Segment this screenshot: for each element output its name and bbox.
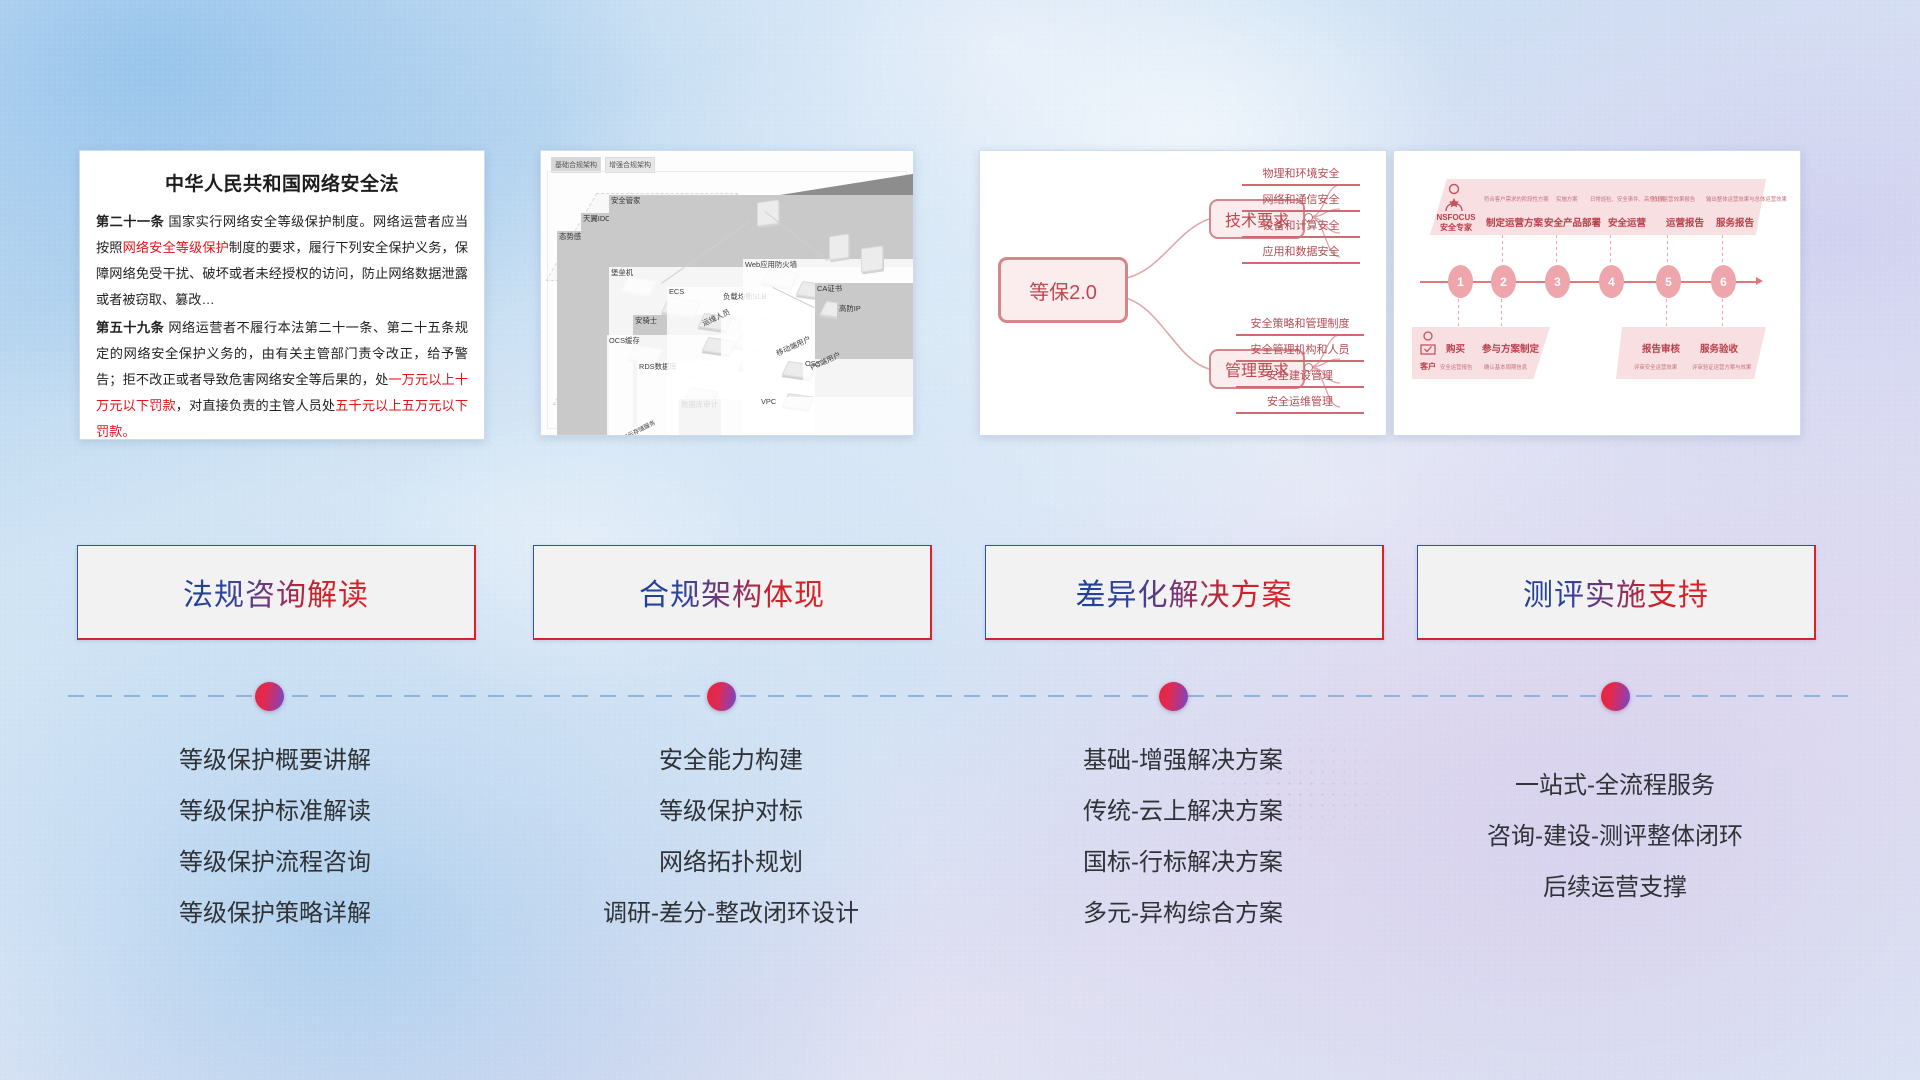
roadmap-link-3 — [1556, 235, 1557, 263]
roadmap-customer-sub-2: 确认基本周期信息 — [1484, 363, 1527, 371]
roadmap-customer-caption-3: 报告审核 — [1642, 341, 1680, 355]
mindmap-leaf-org-personnel: 安全管理机构和人员 — [1236, 341, 1364, 362]
list-item: 传统-云上解决方案 — [985, 786, 1381, 837]
section-header-assessment-support[interactable]: 测评实施支持 — [1417, 545, 1816, 640]
section-header-label-3: 差异化解决方案 — [1076, 570, 1293, 614]
detail-column-3: 基础-增强解决方案 传统-云上解决方案 国标-行标解决方案 多元-异构综合方案 — [985, 735, 1381, 939]
timeline-dot-1[interactable] — [255, 682, 284, 711]
list-item: 安全能力构建 — [533, 735, 929, 786]
list-item: 等级保护对标 — [533, 786, 929, 837]
roadmap-customer-caption-4: 服务验收 — [1700, 341, 1738, 355]
article-59-text-2: ，对直接负责的主管人员处 — [176, 398, 335, 413]
list-item: 咨询-建设-测评整体闭环 — [1417, 811, 1813, 862]
roadmap-customer-caption-1: 购买 — [1446, 341, 1465, 355]
roadmap-step-marker-6: 6 — [1711, 265, 1736, 298]
roadmap-link-c2 — [1501, 299, 1502, 329]
node-icon-mobile-user — [829, 234, 849, 261]
mindmap-leaf-ops-mgmt: 安全运维管理 — [1236, 393, 1364, 414]
roadmap-customer-sub-4: 评审验证运营方案与效果 — [1692, 363, 1751, 371]
timeline-dot-4[interactable] — [1601, 682, 1630, 711]
list-item: 等级保护标准解读 — [77, 786, 473, 837]
detail-column-4: 一站式-全流程服务 咨询-建设-测评整体闭环 后续运营支撑 — [1417, 735, 1813, 913]
roadmap-link-6 — [1722, 235, 1723, 263]
section-header-label-1: 法规咨询解读 — [183, 570, 369, 614]
list-item: 多元-异构综合方案 — [985, 888, 1381, 939]
roadmap-link-2 — [1502, 235, 1503, 263]
roadmap-step-marker-5: 5 — [1656, 265, 1681, 298]
timeline-dot-3[interactable] — [1159, 682, 1188, 711]
roadmap-step-caption-4: 安全运营 — [1608, 215, 1646, 229]
list-item: 后续运营支撑 — [1417, 862, 1813, 913]
architecture-diagram: 基础合规架构 增强合规架构 阿里云 态势感知 天翼IDC 安全管家 — [541, 151, 913, 435]
detail-column-2: 安全能力构建 等级保护对标 网络拓扑规划 调研-差分-整改闭环设计 — [533, 735, 929, 939]
roadmap-customer-caption-2: 参与方案制定 — [1482, 341, 1539, 355]
roadmap-step-caption-6: 服务报告 — [1716, 215, 1754, 229]
roadmap-link-c1 — [1458, 299, 1459, 329]
roadmap-step-caption-5: 运营报告 — [1666, 215, 1704, 229]
list-item: 等级保护策略详解 — [77, 888, 473, 939]
mindmap-leaf-device-compute: 设备和计算安全 — [1242, 217, 1360, 238]
roadmap-link-c5 — [1666, 299, 1667, 329]
roadmap-step-sub-5: 阶段运营效果报告 — [1652, 195, 1695, 203]
article-59-label: 第五十九条 — [96, 320, 164, 335]
roadmap-step-marker-3: 3 — [1545, 265, 1570, 298]
article-21-label: 第二十一条 — [96, 214, 164, 229]
section-headers-row: 法规咨询解读 合规架构体现 差异化解决方案 测评实施支持 — [0, 545, 1920, 640]
expert-person-icon — [1442, 183, 1466, 213]
mindmap-leaf-construction-mgmt: 安全建设管理 — [1236, 367, 1364, 388]
section-header-compliance-architecture[interactable]: 合规架构体现 — [533, 545, 932, 640]
roadmap-step-marker-1: 1 — [1448, 265, 1473, 298]
detail-column-1: 等级保护概要讲解 等级保护标准解读 等级保护流程咨询 等级保护策略详解 — [77, 735, 473, 939]
mindmap-leaf-physical-env: 物理和环境安全 — [1242, 165, 1360, 186]
roadmap-link-4 — [1610, 235, 1611, 263]
slide-stage: 中华人民共和国网络安全法 第二十一条 国家实行网络安全等级保护制度。网络运营者应… — [0, 0, 1920, 1080]
law-article-21: 第二十一条 国家实行网络安全等级保护制度。网络运营者应当按照网络安全等级保护制度… — [96, 209, 468, 313]
customer-person-icon — [1418, 331, 1438, 359]
roadmap-step-marker-2: 2 — [1491, 265, 1516, 298]
roadmap-step-sub-2: 符合客户需求的阶段性方案 — [1484, 195, 1549, 203]
list-item: 网络拓扑规划 — [533, 837, 929, 888]
timeline-dashed-line — [68, 695, 1858, 697]
card-compliance-architecture: 基础合规架构 增强合规架构 阿里云 态势感知 天翼IDC 安全管家 — [540, 150, 914, 436]
roadmap-customer-band-right — [1616, 327, 1766, 379]
reference-cards-row: 中华人民共和国网络安全法 第二十一条 国家实行网络安全等级保护制度。网络运营者应… — [0, 150, 1920, 445]
list-item: 一站式-全流程服务 — [1417, 760, 1813, 811]
list-item: 调研-差分-整改闭环设计 — [533, 888, 929, 939]
timeline — [0, 660, 1920, 720]
section-header-regulation-consulting[interactable]: 法规咨询解读 — [77, 545, 476, 640]
section-header-differentiated-solutions[interactable]: 差异化解决方案 — [985, 545, 1384, 640]
roadmap-step-marker-4: 4 — [1599, 265, 1624, 298]
list-item: 等级保护概要讲解 — [77, 735, 473, 786]
detail-columns: 等级保护概要讲解 等级保护标准解读 等级保护流程咨询 等级保护策略详解 安全能力… — [0, 735, 1920, 965]
list-item: 国标-行标解决方案 — [985, 837, 1381, 888]
mindmap-leaf-policy-system: 安全策略和管理制度 — [1236, 315, 1364, 336]
mindmap-leaf-network-comm: 网络和通信安全 — [1242, 191, 1360, 212]
node-icon-pc-user — [861, 245, 883, 272]
roadmap-step-sub-3: 实施方案 — [1556, 195, 1578, 203]
card-dengbao-mindmap: 等保2.0 技术要求 管理要求 物理和环境安全 网络和通信安全 设备和计算安全 … — [979, 150, 1387, 436]
card-cybersecurity-law: 中华人民共和国网络安全法 第二十一条 国家实行网络安全等级保护制度。网络运营者应… — [79, 150, 485, 440]
timeline-dot-2[interactable] — [707, 682, 736, 711]
mindmap-leaf-app-data: 应用和数据安全 — [1242, 243, 1360, 264]
roadmap-axis-arrow-icon — [1756, 277, 1763, 285]
roadmap-link-5 — [1667, 235, 1668, 263]
roadmap-expert-role-label: NSFOCUS安全专家 — [1434, 213, 1478, 233]
roadmap-step-caption-2: 制定运营方案 — [1486, 215, 1543, 229]
roadmap-link-c6 — [1722, 299, 1723, 329]
list-item: 基础-增强解决方案 — [985, 735, 1381, 786]
section-header-label-4: 测评实施支持 — [1523, 570, 1709, 614]
card-service-roadmap: NSFOCUS安全专家 制定运营方案 符合客户需求的阶段性方案 安全产品部署 实… — [1393, 150, 1801, 436]
roadmap-step-caption-3: 安全产品部署 — [1544, 215, 1601, 229]
roadmap-customer-role-label: 客户 — [1420, 361, 1436, 372]
list-item: 等级保护流程咨询 — [77, 837, 473, 888]
roadmap-customer-sub-3: 评审安全运营效果 — [1634, 363, 1677, 371]
roadmap-diagram: NSFOCUS安全专家 制定运营方案 符合客户需求的阶段性方案 安全产品部署 实… — [1394, 151, 1800, 435]
roadmap-step-sub-6: 输出整体运营效果与总体运营效果 — [1706, 195, 1787, 203]
law-title: 中华人民共和国网络安全法 — [96, 169, 468, 196]
section-header-label-2: 合规架构体现 — [639, 570, 825, 614]
mindmap-root-node: 等保2.0 — [998, 257, 1128, 323]
article-21-highlight: 网络安全等级保护 — [123, 240, 229, 255]
mindmap: 等保2.0 技术要求 管理要求 物理和环境安全 网络和通信安全 设备和计算安全 … — [980, 151, 1386, 435]
law-article-59: 第五十九条 网络运营者不履行本法第二十一条、第二十五条规定的网络安全保护义务的，… — [96, 315, 468, 440]
roadmap-customer-sub-1: 安全运营报告 — [1440, 363, 1472, 371]
